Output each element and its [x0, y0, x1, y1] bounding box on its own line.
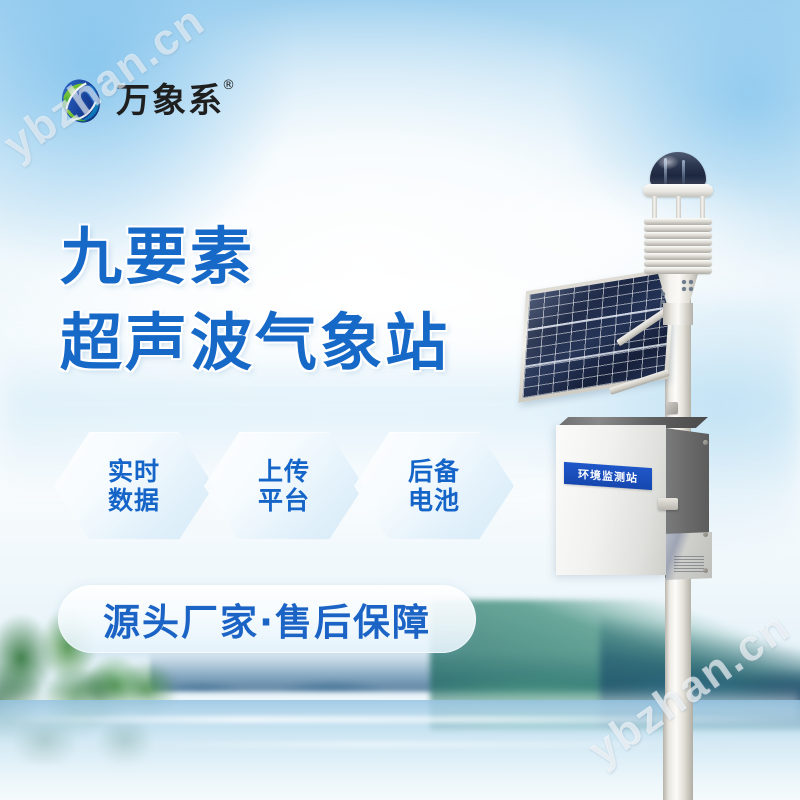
cabinet-bolt — [703, 568, 708, 573]
feature-badge-line-2: 电池 — [408, 486, 460, 516]
sensor-support-post-b — [676, 196, 681, 220]
guarantee-banner: 源头厂家·售后保障 — [58, 585, 476, 653]
sensor-indicator-led — [689, 287, 693, 291]
globe-swirl-logo-icon — [55, 75, 107, 127]
feature-badge-line-1: 上传 — [258, 457, 310, 487]
feature-badge-line-2: 平台 — [258, 486, 310, 516]
weather-station-product: 环境监测站 — [500, 140, 800, 800]
shield-louver — [644, 218, 712, 225]
cabinet-latch — [658, 498, 678, 510]
sensor-indicator-led — [682, 280, 686, 284]
shield-louver — [644, 232, 712, 239]
product-poster: 环境监测站 — [0, 0, 800, 800]
registered-trademark-icon: ® — [222, 79, 237, 92]
cabinet-front-panel — [556, 425, 666, 575]
shield-louver — [644, 267, 712, 274]
ultrasonic-transducer-b — [682, 160, 685, 184]
ultrasonic-sensor-dome-icon — [650, 152, 706, 186]
sensor-support-post-c — [700, 196, 705, 220]
cabinet-bolt — [703, 532, 708, 537]
cabinet-label-text: 环境监测站 — [578, 466, 638, 486]
cabinet-vent-louvers — [674, 554, 704, 572]
cabinet-bolt — [703, 440, 708, 445]
feature-badge-upload-platform[interactable]: 上传 平台 — [204, 432, 364, 540]
sensor-support-post-a — [652, 196, 657, 220]
shield-louver — [644, 239, 712, 246]
brand-name-text: 万象系 — [116, 81, 224, 121]
mounting-mast-base — [663, 700, 693, 800]
sensor-neck-lower — [663, 303, 693, 325]
ultrasonic-transducer-a — [664, 158, 667, 184]
shield-louver — [644, 246, 712, 253]
shield-louver — [644, 260, 712, 267]
sensor-indicator-led — [689, 280, 693, 284]
sensor-indicator-led — [682, 287, 686, 291]
radiation-shield-icon — [644, 218, 712, 276]
guarantee-text: 源头厂家·售后保障 — [103, 592, 431, 646]
feature-badge-line-1: 实时 — [108, 457, 160, 487]
feature-badge-line-2: 数据 — [108, 486, 160, 516]
headline-line-2: 超声波气象站 — [60, 308, 530, 377]
brand-name: 万象系 ® — [116, 84, 224, 118]
headline-line-1: 九要素 — [60, 222, 530, 291]
panel-brace-bolt — [666, 402, 678, 414]
brand-logo: 万象系 ® — [55, 72, 230, 130]
feature-badge-line-1: 后备 — [408, 457, 460, 487]
headline-block: 九要素 超声波气象站 — [60, 222, 530, 378]
feature-badges: 实时 数据 上传 平台 后备 电池 — [62, 432, 482, 540]
shield-louver — [644, 253, 712, 260]
feature-badge-realtime-data[interactable]: 实时 数据 — [54, 432, 214, 540]
solar-panel-icon — [518, 267, 675, 403]
shield-louver — [644, 225, 712, 232]
sensor-indicator-led — [661, 292, 665, 296]
